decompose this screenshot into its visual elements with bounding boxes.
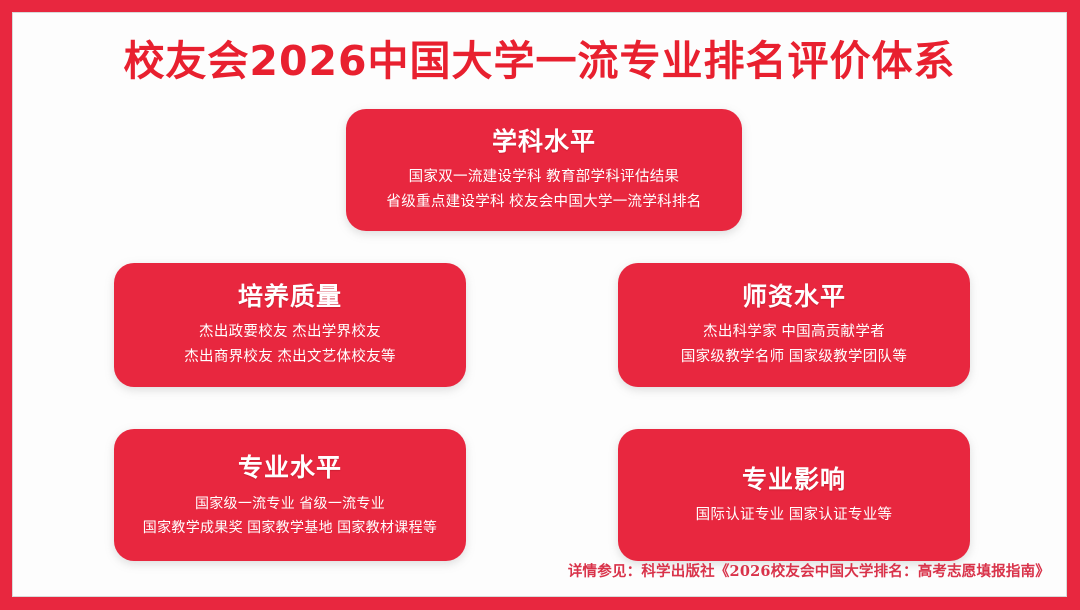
card-major-level-line-1: 国家级一流专业 省级一流专业 [195, 493, 385, 514]
card-major-level-title: 专业水平 [238, 452, 342, 483]
card-major-impact-lines: 国际认证专业 国家认证专业等 [696, 505, 893, 527]
card-cultivation-lines: 杰出政要校友 杰出学界校友 杰出商界校友 杰出文艺体校友等 [184, 322, 396, 369]
card-major-impact: 专业影响 国际认证专业 国家认证专业等 [618, 429, 970, 561]
card-discipline-line-1: 国家双一流建设学科 教育部学科评估结果 [409, 167, 680, 189]
poster-frame: 校友会2026中国大学一流专业排名评价体系 学科水平 国家双一流建设学科 教育部… [0, 0, 1080, 610]
card-faculty-title: 师资水平 [742, 281, 846, 312]
page-title: 校友会2026中国大学一流专业排名评价体系 [13, 39, 1066, 84]
card-discipline-lines: 国家双一流建设学科 教育部学科评估结果 省级重点建设学科 校友会中国大学一流学科… [386, 167, 701, 214]
card-faculty-line-2: 国家级教学名师 国家级教学团队等 [681, 347, 907, 369]
card-discipline-title: 学科水平 [492, 126, 596, 157]
poster-canvas: 校友会2026中国大学一流专业排名评价体系 学科水平 国家双一流建设学科 教育部… [12, 12, 1067, 597]
footer-source-note: 详情参见：科学出版社《2026校友会中国大学排名：高考志愿填报指南》 [568, 560, 1050, 581]
card-major-level-lines: 国家级一流专业 省级一流专业 国家教学成果奖 国家教学基地 国家教材课程等 [143, 493, 437, 538]
card-faculty: 师资水平 杰出科学家 中国高贡献学者 国家级教学名师 国家级教学团队等 [618, 263, 970, 387]
card-major-impact-title: 专业影响 [742, 464, 846, 495]
card-major-impact-line-1: 国际认证专业 国家认证专业等 [696, 505, 893, 527]
card-faculty-line-1: 杰出科学家 中国高贡献学者 [703, 322, 885, 344]
card-cultivation: 培养质量 杰出政要校友 杰出学界校友 杰出商界校友 杰出文艺体校友等 [114, 263, 466, 387]
card-faculty-lines: 杰出科学家 中国高贡献学者 国家级教学名师 国家级教学团队等 [681, 322, 907, 369]
card-cultivation-line-1: 杰出政要校友 杰出学界校友 [199, 322, 381, 344]
card-cultivation-line-2: 杰出商界校友 杰出文艺体校友等 [184, 347, 396, 369]
card-major-level-line-2: 国家教学成果奖 国家教学基地 国家教材课程等 [143, 517, 437, 538]
card-cultivation-title: 培养质量 [238, 281, 342, 312]
card-major-level: 专业水平 国家级一流专业 省级一流专业 国家教学成果奖 国家教学基地 国家教材课… [114, 429, 466, 561]
card-discipline-line-2: 省级重点建设学科 校友会中国大学一流学科排名 [386, 192, 701, 214]
card-discipline: 学科水平 国家双一流建设学科 教育部学科评估结果 省级重点建设学科 校友会中国大… [346, 109, 742, 231]
